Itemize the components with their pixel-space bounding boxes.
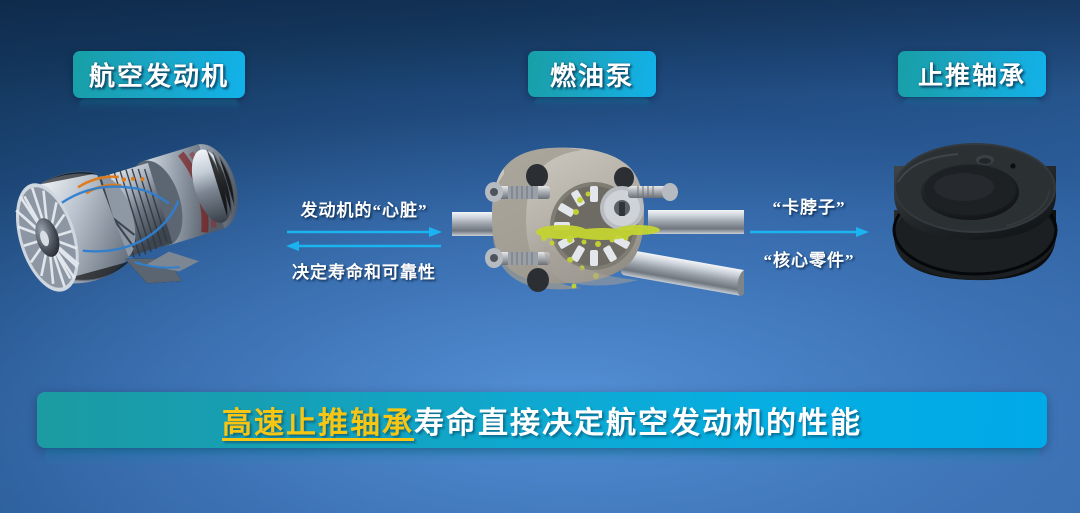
pill-reflection-pump — [534, 97, 650, 111]
label-chip-thrust-bearing[interactable]: 止推轴承 — [898, 51, 1046, 97]
arrow-right-icon — [750, 227, 869, 237]
banner-rest-text: 寿命直接决定航空发动机的性能 — [414, 398, 862, 442]
fuel-pump-image — [452, 128, 744, 324]
pill-reflection-bearing — [904, 97, 1040, 111]
conclusion-banner: 高速止推轴承 寿命直接决定航空发动机的性能 — [37, 392, 1047, 448]
annotation-pump-to-bearing: “卡脖子” “核心零件” — [748, 193, 870, 271]
label-chip-aero-engine-text: 航空发动机 — [89, 56, 229, 93]
label-chip-fuel-pump[interactable]: 燃油泵 — [528, 51, 656, 97]
annotation-right-top-text: “卡脖子” — [773, 193, 846, 218]
annotation-right-bottom-text: “核心零件” — [764, 246, 855, 271]
slide-canvas: 航空发动机 燃油泵 止推轴承 发动机的“心脏” 决定寿命和可靠性 “卡脖子” — [0, 0, 1080, 513]
arrow-left-icon — [286, 241, 441, 251]
label-chip-thrust-bearing-text: 止推轴承 — [918, 56, 1026, 92]
annotation-left-arrows — [285, 227, 443, 253]
banner-highlight-text: 高速止推轴承 — [222, 398, 414, 442]
annotation-right-arrow — [748, 226, 870, 238]
annotation-left-bottom-text: 决定寿命和可靠性 — [292, 258, 436, 283]
label-chip-aero-engine[interactable]: 航空发动机 — [73, 51, 245, 98]
banner-reflection — [45, 448, 1039, 466]
jet-engine-image — [14, 112, 279, 332]
arrow-right-icon — [287, 227, 442, 237]
thrust-bearing-image — [882, 130, 1068, 320]
label-chip-fuel-pump-text: 燃油泵 — [550, 56, 634, 93]
annotation-left-top-text: 发动机的“心脏” — [301, 196, 428, 221]
annotation-engine-to-pump: 发动机的“心脏” 决定寿命和可靠性 — [283, 196, 445, 283]
pill-reflection-engine — [79, 98, 239, 113]
